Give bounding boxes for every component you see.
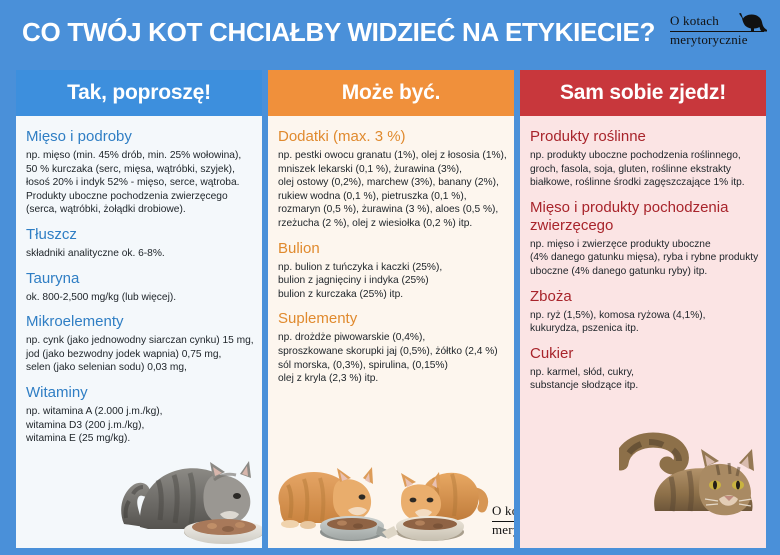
footer-brand-logo-line2: merytorycznie <box>492 522 514 538</box>
section-line: witamina E (25 mg/kg). <box>26 432 252 446</box>
section-line: uboczne (4% danego gatunku ryby) itp. <box>530 265 756 279</box>
section-line: np. cynk (jako jednowodny siarczan cynku… <box>26 334 252 348</box>
page-title: CO TWÓJ KOT CHCIAŁBY WIDZIEĆ NA ETYKIECI… <box>22 16 672 48</box>
section-zboza: Zboża np. ryż (1,5%), komosa ryżowa (4,1… <box>530 288 756 336</box>
section-produkty-roslinne: Produkty roślinne np. produkty uboczne p… <box>530 128 756 190</box>
section-body: np. mięso (min. 45% drób, min. 25% wołow… <box>26 149 252 217</box>
column-no-body: Produkty roślinne np. produkty uboczne p… <box>520 116 766 548</box>
section-line: rozmaryn (0,5 %), żurawina (3 %), aloes … <box>278 203 504 217</box>
section-line: łosoś 20% i indyk 52% - mięso, serce, wą… <box>26 176 252 190</box>
section-witaminy: Witaminy np. witamina A (2.000 j.m./kg),… <box>26 384 252 446</box>
section-title: Mięso i produkty pochodzenia zwierzęcego <box>530 199 756 235</box>
column-yes-header: Tak, poproszę! <box>16 70 262 116</box>
section-line: np. mięso i zwierzęce produkty uboczne <box>530 238 756 252</box>
section-line: białkowe, roślinne środki zagęszczające … <box>530 176 756 190</box>
section-body: np. ryż (1,5%), komosa ryżowa (4,1%), ku… <box>530 309 756 336</box>
section-tluszcz: Tłuszcz składniki analityczne ok. 6-8%. <box>26 226 252 261</box>
section-body: ok. 800-2,500 mg/kg (lub więcej). <box>26 291 252 305</box>
section-line: olej ostowy (0,2%), marchew (3%), banany… <box>278 176 504 190</box>
section-body: składniki analityczne ok. 6-8%. <box>26 247 252 261</box>
section-line: Produkty uboczne pochodzenia zwierzęcego <box>26 190 252 204</box>
section-title: Zboża <box>530 288 756 306</box>
section-line: ok. 800-2,500 mg/kg (lub więcej). <box>26 291 252 305</box>
tabby-cat-photo <box>116 428 262 548</box>
section-line: sproszkowane skorupki jaj (0,5%), żółtko… <box>278 345 504 359</box>
section-body: np. mięso i zwierzęce produkty uboczne (… <box>530 238 756 279</box>
column-no-header: Sam sobie zjedz! <box>520 70 766 116</box>
section-line: groch, fasola, soja, gluten, roślinne ek… <box>530 163 756 177</box>
column-yes-body: Mięso i podroby np. mięso (min. 45% drób… <box>16 116 262 548</box>
brand-logo: O kotach merytorycznie <box>668 12 772 54</box>
section-body: np. drożdże piwowarskie (0,4%), sproszko… <box>278 331 504 385</box>
section-title: Witaminy <box>26 384 252 402</box>
footer-brand-logo-line1: O kotach <box>492 503 514 519</box>
section-line: (4% danego gatunku mięsa), ryba i rybne … <box>530 251 756 265</box>
section-title: Produkty roślinne <box>530 128 756 146</box>
section-line: witamina D3 (200 j.m./kg), <box>26 419 252 433</box>
section-line: składniki analityczne ok. 6-8%. <box>26 247 252 261</box>
section-title: Cukier <box>530 345 756 363</box>
section-line: jod (jako bezwodny jodek wapnia) 0,75 mg… <box>26 348 252 362</box>
cat-silhouette-icon <box>738 10 768 32</box>
section-title: Mikroelementy <box>26 313 252 331</box>
section-line: bulion z jagnięciny i indyka (25%) <box>278 274 504 288</box>
section-line: olej z kryla (2,3 %) itp. <box>278 372 504 386</box>
section-cukier: Cukier np. karmel, słód, cukry, substanc… <box>530 345 756 393</box>
section-line: np. pestki owocu granatu (1%), olej z ło… <box>278 149 504 163</box>
section-bulion: Bulion np. bulion z tuńczyka i kaczki (2… <box>278 240 504 302</box>
section-mikroelementy: Mikroelementy np. cynk (jako jednowodny … <box>26 313 252 375</box>
column-no: Sam sobie zjedz! Produkty roślinne np. p… <box>520 70 766 548</box>
section-title: Bulion <box>278 240 504 258</box>
section-title: Dodatki (max. 3 %) <box>278 128 504 146</box>
section-line: np. bulion z tuńczyka i kaczki (25%), <box>278 261 504 275</box>
section-line: np. drożdże piwowarskie (0,4%), <box>278 331 504 345</box>
section-body: np. bulion z tuńczyka i kaczki (25%), bu… <box>278 261 504 302</box>
section-body: np. produkty uboczne pochodzenia roślinn… <box>530 149 756 190</box>
infographic-page: CO TWÓJ KOT CHCIAŁBY WIDZIEĆ NA ETYKIECI… <box>0 0 780 555</box>
brand-logo-line1: O kotach <box>670 13 719 29</box>
section-body: np. pestki owocu granatu (1%), olej z ło… <box>278 149 504 231</box>
section-dodatki: Dodatki (max. 3 %) np. pestki owocu gran… <box>278 128 504 231</box>
brand-logo-line2: merytorycznie <box>670 32 748 48</box>
column-maybe-body: Dodatki (max. 3 %) np. pestki owocu gran… <box>268 116 514 548</box>
section-line: bulion z kurczaka (25%) itp. <box>278 288 504 302</box>
section-line: np. ryż (1,5%), komosa ryżowa (4,1%), <box>530 309 756 323</box>
lying-tabby-photo <box>619 417 764 522</box>
section-body: np. witamina A (2.000 j.m./kg), witamina… <box>26 405 252 446</box>
ginger-kittens-photo <box>274 440 489 548</box>
section-title: Mięso i podroby <box>26 128 252 146</box>
section-line: mniszek lekarski (0,1 %), żurawina (3%), <box>278 163 504 177</box>
section-title: Tauryna <box>26 270 252 288</box>
column-maybe-header: Może być. <box>268 70 514 116</box>
column-yes: Tak, poproszę! Mięso i podroby np. mięso… <box>16 70 262 548</box>
header-bar: CO TWÓJ KOT CHCIAŁBY WIDZIEĆ NA ETYKIECI… <box>0 0 780 64</box>
section-line: np. karmel, słód, cukry, <box>530 366 756 380</box>
section-body: np. karmel, słód, cukry, substancje słod… <box>530 366 756 393</box>
section-line: 50 % kurczaka (serc, mięsa, wątróbki, sz… <box>26 163 252 177</box>
section-mieso-i-podroby: Mięso i podroby np. mięso (min. 45% drób… <box>26 128 252 217</box>
section-line: np. produkty uboczne pochodzenia roślinn… <box>530 149 756 163</box>
section-tauryna: Tauryna ok. 800-2,500 mg/kg (lub więcej)… <box>26 270 252 305</box>
section-mieso-produkty-zwierzece: Mięso i produkty pochodzenia zwierzęcego… <box>530 199 756 279</box>
section-line: np. witamina A (2.000 j.m./kg), <box>26 405 252 419</box>
section-line: selen (jako selenian sodu) 0,03 mg, <box>26 361 252 375</box>
section-body: np. cynk (jako jednowodny siarczan cynku… <box>26 334 252 375</box>
section-line: sól morska, (0,3%), spirulina, (0,15%) <box>278 359 504 373</box>
section-line: rzeżucha (2 %), olej z wiesiołka (0,2 %)… <box>278 217 504 231</box>
section-line: substancje słodzące itp. <box>530 379 756 393</box>
section-title: Tłuszcz <box>26 226 252 244</box>
section-line: rukiew wodna (0,1 %), pietruszka (0,1 %)… <box>278 190 504 204</box>
section-title: Suplementy <box>278 310 504 328</box>
footer-brand-logo: O kotach merytorycznie <box>490 502 514 542</box>
section-suplementy: Suplementy np. drożdże piwowarskie (0,4%… <box>278 310 504 385</box>
section-line: (serca, wątróbki, żołądki drobiowe). <box>26 203 252 217</box>
section-line: np. mięso (min. 45% drób, min. 25% wołow… <box>26 149 252 163</box>
column-maybe: Może być. Dodatki (max. 3 %) np. pestki … <box>268 70 514 548</box>
section-line: kukurydza, pszenica itp. <box>530 322 756 336</box>
